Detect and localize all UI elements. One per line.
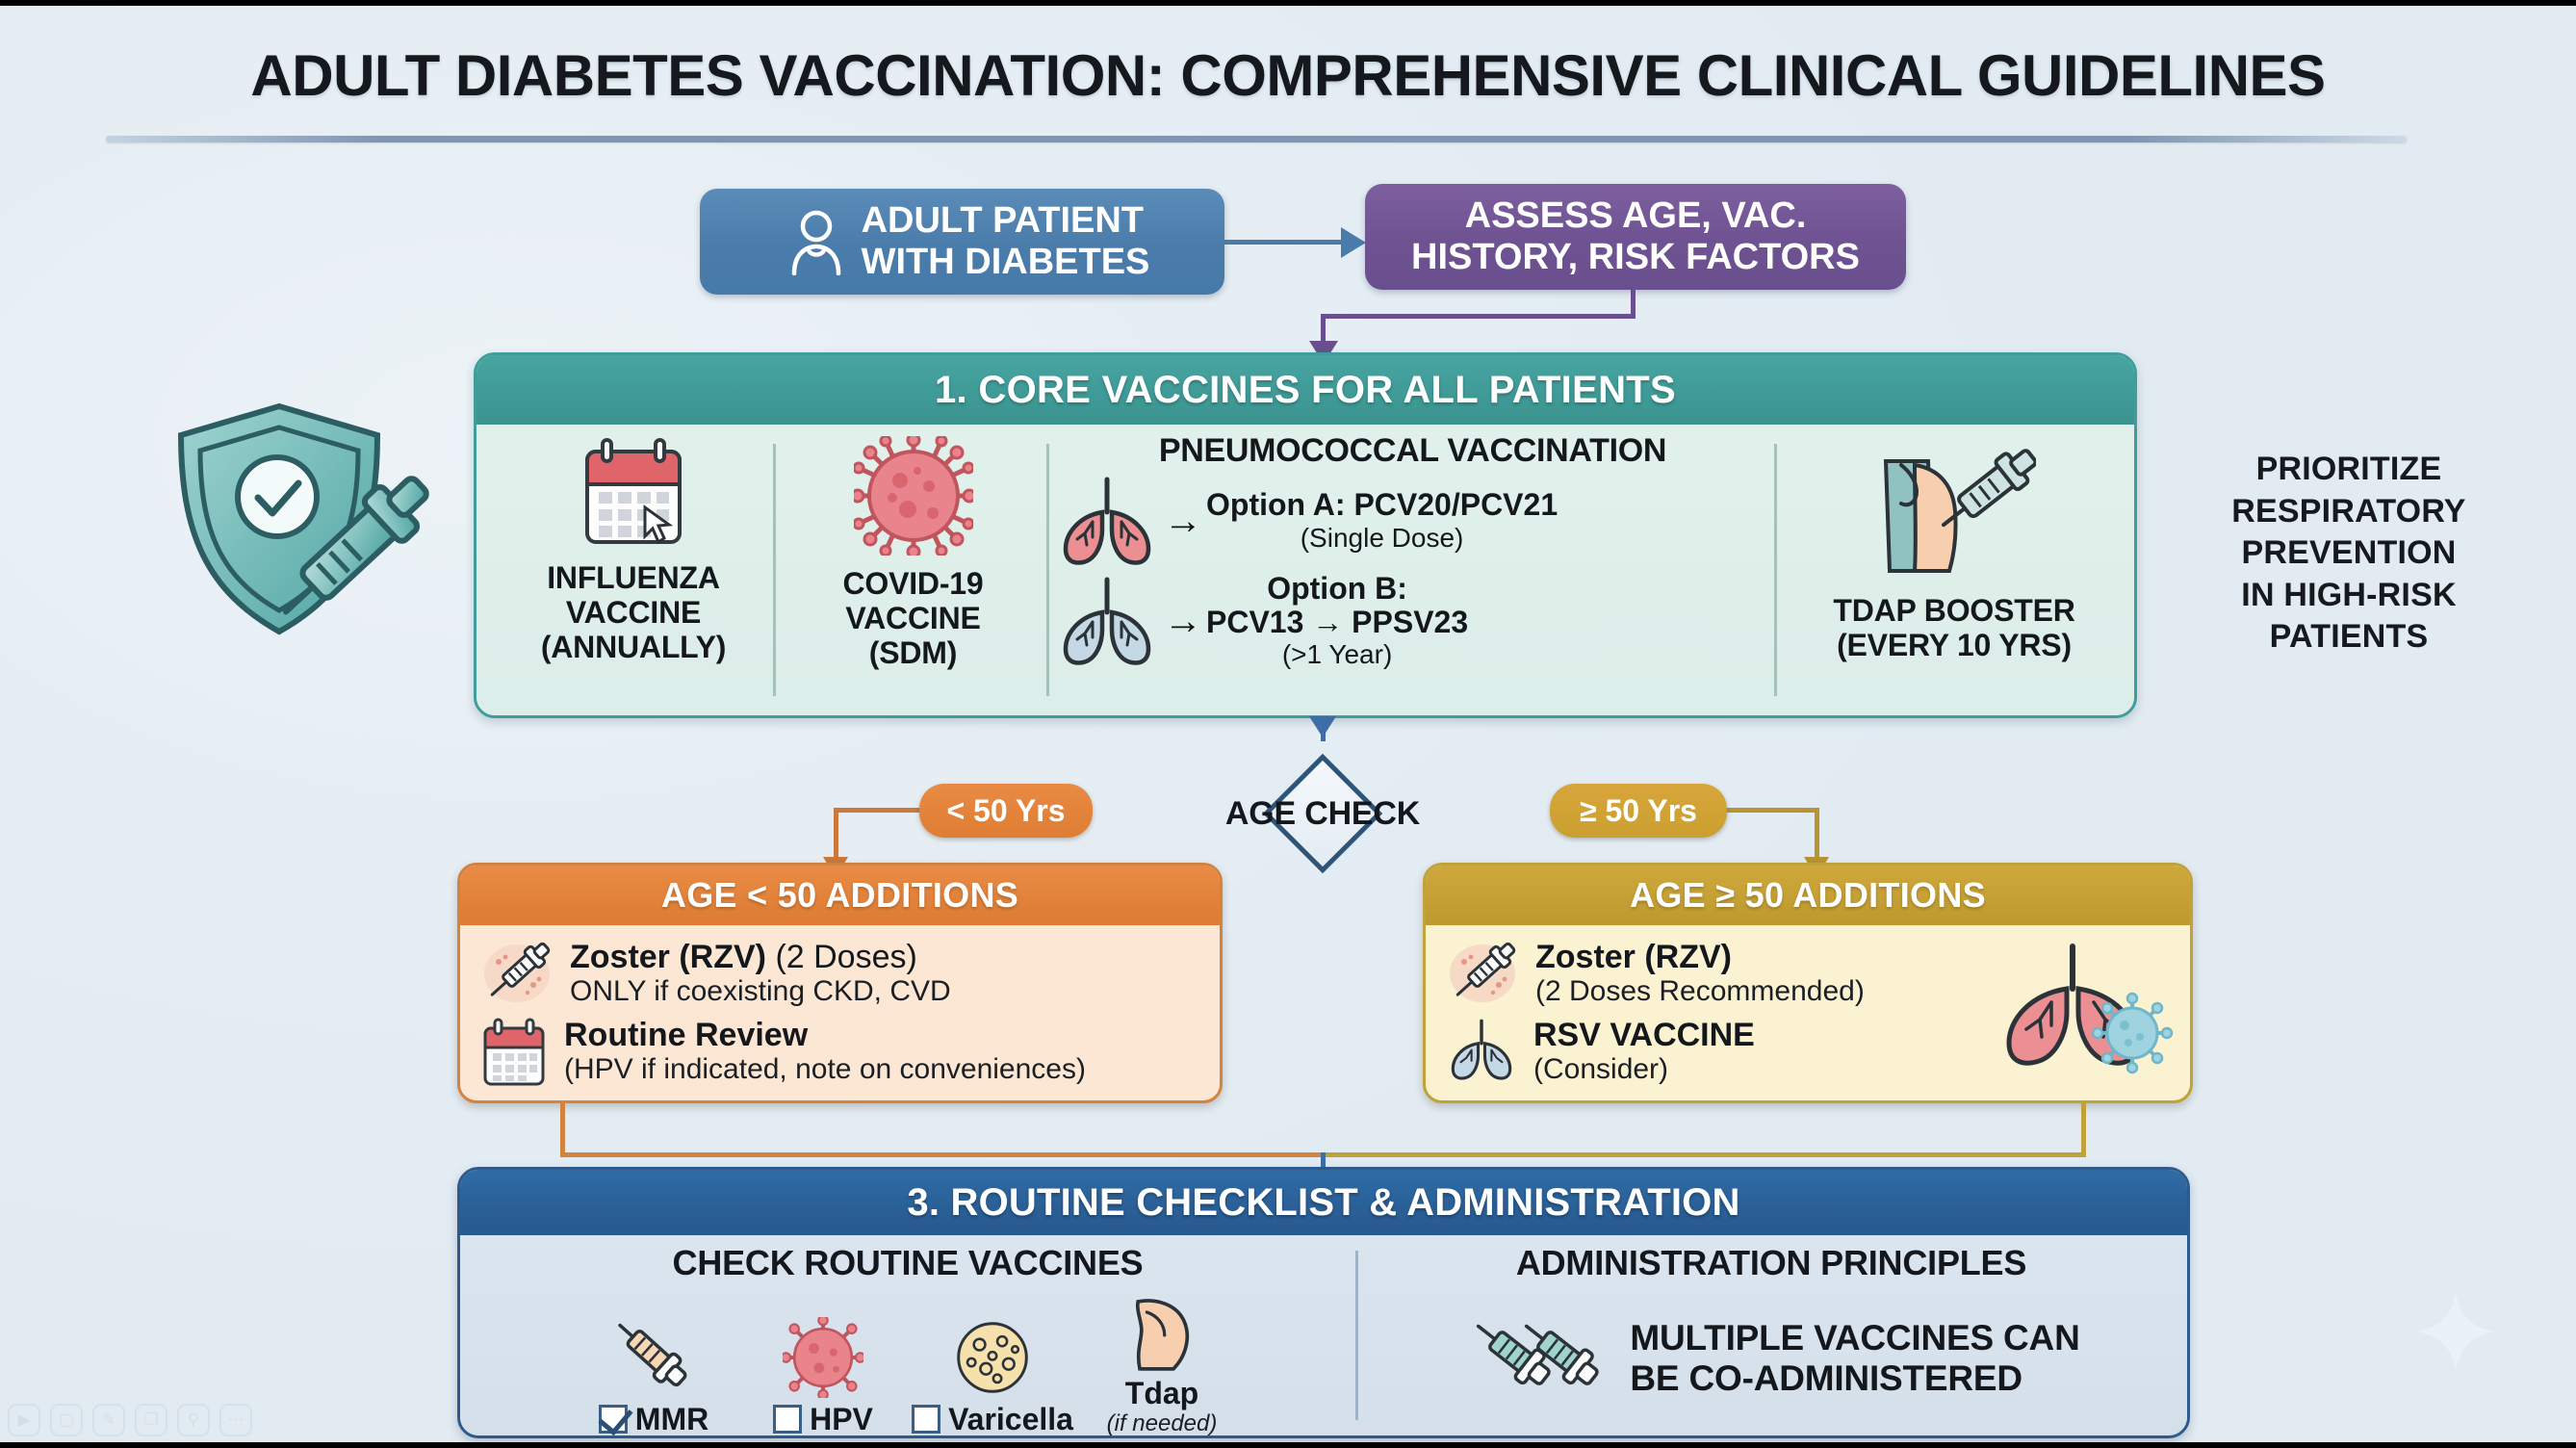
core-vaccines-card: 1. CORE VACCINES FOR ALL PATIENTS [474,352,2137,718]
core-column-tdap[interactable]: TDAP BOOSTER (EVERY 10 YRS) [1786,436,2123,663]
checklist-item-mmr[interactable]: MMR [581,1313,726,1437]
core-column-pneumococcal[interactable]: PNEUMOCOCCAL VACCINATION [1054,432,1771,671]
virus-icon [783,1317,863,1398]
routine-checklist-card: 3. ROUTINE CHECKLIST & ADMINISTRATION CH… [457,1167,2190,1438]
merge-left-horizontal [560,1152,1324,1157]
lt50-zoster-sub: ONLY if coexisting CKD, CVD [570,975,951,1009]
play-icon[interactable]: ▶ [8,1404,40,1436]
routine-checklist-header: 3. ROUTINE CHECKLIST & ADMINISTRATION [460,1170,2187,1235]
virus-icon [854,436,973,556]
checkbox-hpv[interactable] [773,1405,802,1434]
checkbox-mmr[interactable] [599,1405,628,1434]
checklist-label-tdap: Tdap [1125,1378,1198,1410]
assess-box[interactable]: ASSESS AGE, VAC. HISTORY, RISK FACTORS [1365,184,1906,290]
lungs-red-icon [1054,474,1160,568]
search-icon[interactable]: ⚲ [177,1404,210,1436]
tdap-caption: TDAP BOOSTER (EVERY 10 YRS) [1833,594,2074,663]
administration-principles-title: ADMINISTRATION PRINCIPLES [1355,1243,2187,1283]
branch-chip-over-50[interactable]: ≥ 50 Yrs [1550,784,1727,838]
lt50-zoster-title: Zoster (RZV) [570,939,766,975]
checklist-item-tdap[interactable]: Tdap (if needed) [1090,1289,1234,1437]
shield-syringe-icon [154,389,443,678]
covid-caption: COVID-19 VACCINE (SDM) [843,567,984,670]
administration-principles-section: ADMINISTRATION PRINCIPLES [1355,1235,2187,1435]
core-column-influenza[interactable]: INFLUENZA VACCINE (ANNUALLY) [494,436,773,664]
check-routine-vaccines-section: CHECK ROUTINE VACCINES [460,1235,1355,1435]
flow-arrow-line [1224,240,1346,245]
title-underline [106,136,2407,142]
option-a-main: Option A: PCV20/PCV21 [1206,488,1558,522]
ge50-rsv-sub: (Consider) [1533,1053,1755,1087]
infographic-canvas: ADULT DIABETES VACCINATION: COMPREHENSIV… [0,6,2576,1442]
ge50-rsv-title: RSV VACCINE [1533,1017,1755,1053]
option-b-arrow: → [1164,602,1202,640]
option-b-main-line1: Option B: [1206,572,1468,606]
influenza-caption: INFLUENZA VACCINE (ANNUALLY) [541,561,726,664]
syringe-rash-icon [1445,939,1520,1008]
patient-box-line2: WITH DIABETES [862,242,1150,282]
core-vaccines-header: 1. CORE VACCINES FOR ALL PATIENTS [477,355,2134,425]
sparkle-decoration [2412,1288,2499,1375]
age-under-50-panel: AGE < 50 ADDITIONS [457,863,1223,1103]
pneumococcal-title: PNEUMOCOCCAL VACCINATION [1054,432,1771,470]
age-check-diamond[interactable]: AGE CHECK [1198,757,1447,870]
copy-icon[interactable]: ❐ [135,1404,167,1436]
checklist-note-tdap: (if needed) [1107,1410,1218,1437]
branch-chip-under-50[interactable]: < 50 Yrs [919,784,1093,838]
assess-box-line2: HISTORY, RISK FACTORS [1411,237,1860,277]
core-divider-2 [1046,444,1049,696]
lungs-virus-icon [1984,937,2177,1081]
syringe-icon [612,1313,695,1398]
pen-icon[interactable]: ✎ [92,1404,125,1436]
checkbox-varicella[interactable] [912,1405,940,1434]
bottom-toolbar[interactable]: ▶ ▢ ✎ ❐ ⚲ ⋯ [8,1404,252,1436]
age-over-50-header: AGE ≥ 50 ADDITIONS [1426,866,2190,925]
assess-elbow-seg2 [1321,314,1636,319]
merge-left-vertical [560,1103,565,1157]
lt50-routine-sub: (HPV if indicated, note on conveniences) [564,1053,1086,1087]
checklist-label-mmr: MMR [635,1402,708,1437]
two-syringes-icon [1462,1301,1607,1416]
core-column-covid[interactable]: COVID-19 VACCINE (SDM) [781,436,1045,670]
varicella-icon [952,1317,1033,1398]
person-icon [788,208,844,275]
adult-patient-box[interactable]: ADULT PATIENT WITH DIABETES [700,189,1224,295]
checklist-item-hpv[interactable]: HPV [751,1317,895,1437]
age-check-label: AGE CHECK [1198,757,1447,870]
core-vaccines-body: INFLUENZA VACCINE (ANNUALLY) [477,425,2134,715]
ge50-zoster-title: Zoster (RZV) [1535,939,1732,975]
age-over-50-panel: AGE ≥ 50 ADDITIONS [1423,863,2193,1103]
more-icon[interactable]: ⋯ [219,1404,252,1436]
syringe-rash-icon [479,939,554,1008]
lungs-blue-icon [1445,1017,1518,1082]
admin-text-line1: MULTIPLE VACCINES CAN [1630,1318,2079,1358]
merge-right-horizontal [1321,1152,2086,1157]
checklist-label-hpv: HPV [810,1402,873,1437]
flow-arrow-head [1341,227,1366,258]
checklist-item-varicella[interactable]: Varicella [920,1317,1065,1437]
age-under-50-header: AGE < 50 ADDITIONS [460,866,1220,925]
note-icon[interactable]: ▢ [50,1404,83,1436]
option-b-sub: (>1 Year) [1206,639,1468,670]
pneumococcal-option-a[interactable]: → Option A: PCV20/PCV21 (Single Dose) [1054,474,1771,568]
admin-text-line2: BE CO-ADMINISTERED [1630,1358,2079,1399]
calendar-icon [578,436,689,550]
core-to-agecheck-arrowhead [1309,716,1336,737]
page-title: ADULT DIABETES VACCINATION: COMPREHENSIV… [0,42,2576,109]
right-branch-line-h [1723,808,1819,813]
patient-box-line1: ADULT PATIENT [862,200,1144,241]
core-divider-1 [773,444,776,696]
lt50-zoster-suffix: (2 Doses) [766,939,917,975]
left-branch-line-h [834,808,922,813]
arm-injection-icon [1872,436,2036,581]
pneumococcal-option-b[interactable]: → Option B: PCV13 → PPSV23 (>1 Year) [1054,572,1771,671]
core-divider-3 [1774,444,1777,696]
option-a-sub: (Single Dose) [1206,523,1558,554]
calendar-icon [479,1017,549,1088]
ge50-zoster-sub: (2 Doses Recommended) [1535,975,1865,1009]
age-under-50-row-zoster[interactable]: Zoster (RZV) (2 Doses) ONLY if coexistin… [479,939,1204,1009]
merge-right-vertical [2081,1103,2086,1157]
side-note-prioritize: PRIORITIZE RESPIRATORY PREVENTION IN HIG… [2156,449,2541,659]
assess-box-line1: ASSESS AGE, VAC. [1465,195,1807,236]
option-a-arrow: → [1164,502,1202,540]
lt50-routine-title: Routine Review [564,1017,808,1053]
option-b-main-line2: PCV13 → PPSV23 [1206,606,1468,639]
arm-muscle-icon [1121,1289,1202,1378]
check-routine-vaccines-title: CHECK ROUTINE VACCINES [460,1243,1355,1283]
age-under-50-row-routine[interactable]: Routine Review (HPV if indicated, note o… [479,1017,1204,1088]
checklist-label-varicella: Varicella [948,1402,1073,1437]
lungs-blue-icon [1054,574,1160,668]
